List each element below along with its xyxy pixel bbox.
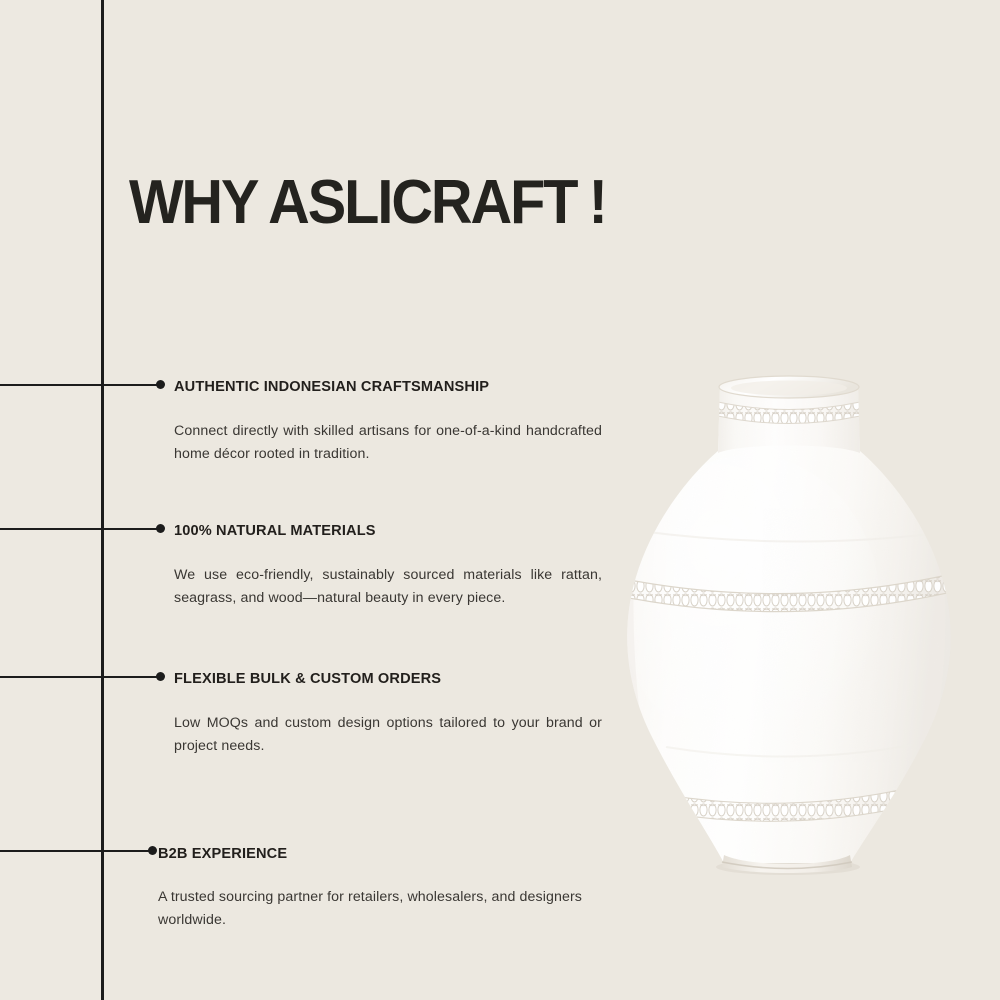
feature-heading: AUTHENTIC INDONESIAN CRAFTSMANSHIP (174, 378, 585, 395)
bullet-dot-3 (156, 672, 165, 681)
feature-body: Connect directly with skilled artisans f… (174, 420, 602, 466)
bullet-dot-1 (156, 380, 165, 389)
feature-item-1: AUTHENTIC INDONESIAN CRAFTSMANSHIP Conne… (174, 378, 602, 466)
vase-svg (600, 355, 1000, 890)
vase-rim (719, 376, 859, 398)
feature-item-4: B2B EXPERIENCE A trusted sourcing partne… (166, 845, 594, 932)
page-title: WHY ASLICRAFT! (129, 172, 606, 234)
page-title-exclamation: ! (589, 168, 606, 237)
connector-line-1 (0, 384, 161, 386)
feature-heading: 100% NATURAL MATERIALS (174, 522, 585, 539)
bullet-dot-2 (156, 524, 165, 533)
feature-heading: B2B EXPERIENCE (158, 845, 577, 862)
vase-body-group (600, 355, 1000, 890)
feature-body: We use eco-friendly, sustainably sourced… (174, 564, 602, 610)
vase-illustration (600, 355, 1000, 890)
feature-body: A trusted sourcing partner for retailers… (158, 886, 594, 932)
feature-item-3: FLEXIBLE BULK & CUSTOM ORDERS Low MOQs a… (174, 670, 602, 758)
page-title-text: WHY ASLICRAFT (129, 168, 576, 237)
connector-line-3 (0, 676, 161, 678)
bullet-dot-4 (148, 846, 157, 855)
connector-line-4 (0, 850, 153, 852)
feature-body: Low MOQs and custom design options tailo… (174, 712, 602, 758)
feature-heading: FLEXIBLE BULK & CUSTOM ORDERS (174, 670, 585, 687)
connector-line-2 (0, 528, 161, 530)
feature-item-2: 100% NATURAL MATERIALS We use eco-friend… (174, 522, 602, 610)
